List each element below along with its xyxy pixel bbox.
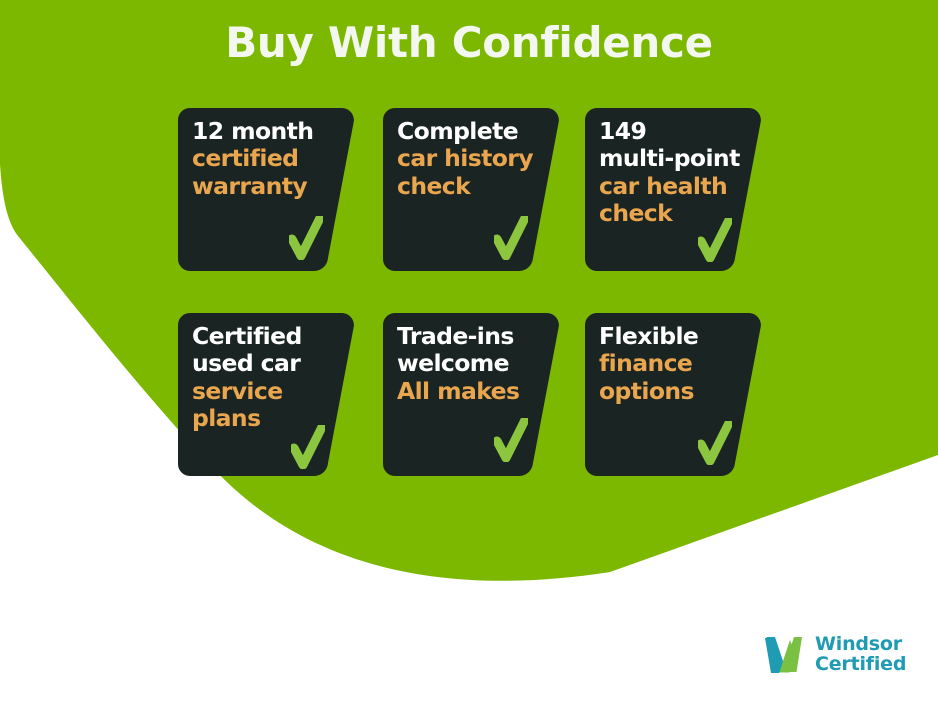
card-line-primary-1: Certified bbox=[192, 323, 344, 350]
card-line-secondary-2: options bbox=[599, 378, 751, 405]
card-line-primary-2: used car bbox=[192, 350, 344, 377]
card-line-primary-1: 12 month bbox=[192, 118, 344, 145]
windsor-certified-logo[interactable]: Windsor Certified bbox=[762, 628, 924, 680]
windsor-w-icon bbox=[762, 634, 806, 674]
card-text-block: Complete car history check bbox=[397, 118, 549, 200]
card-line-secondary-1: finance bbox=[599, 350, 751, 377]
card-line-secondary-1: car history bbox=[397, 145, 549, 172]
benefit-card-trade-ins-welcome-all-makes[interactable]: Trade-ins welcome All makes bbox=[383, 313, 559, 476]
check-icon bbox=[494, 418, 528, 462]
benefit-card-flexible-finance-options[interactable]: Flexible finance options bbox=[585, 313, 761, 476]
logo-line-2: Certified bbox=[815, 654, 906, 674]
benefit-card-certified-used-car-service-plans[interactable]: Certified used car service plans bbox=[178, 313, 354, 476]
card-text-block: 149 multi-point car health check bbox=[599, 118, 751, 227]
check-icon bbox=[698, 218, 732, 262]
card-line-secondary-1: certified bbox=[192, 145, 344, 172]
card-line-secondary-1: All makes bbox=[397, 378, 549, 405]
logo-line-1: Windsor bbox=[815, 634, 906, 654]
check-icon bbox=[289, 216, 323, 260]
page-title: Buy With Confidence bbox=[0, 18, 938, 67]
card-text-block: Certified used car service plans bbox=[192, 323, 344, 432]
card-text-block: Flexible finance options bbox=[599, 323, 751, 405]
card-line-primary-1: Flexible bbox=[599, 323, 751, 350]
check-icon bbox=[291, 425, 325, 469]
benefit-card-149-multi-point-car-health-check[interactable]: 149 multi-point car health check bbox=[585, 108, 761, 271]
poster-canvas: Buy With Confidence 12 month certified w… bbox=[0, 0, 938, 704]
card-line-secondary-1: car health bbox=[599, 173, 751, 200]
check-icon bbox=[698, 421, 732, 465]
card-line-secondary-2: check bbox=[397, 173, 549, 200]
card-line-primary-1: 149 bbox=[599, 118, 751, 145]
logo-wordmark: Windsor Certified bbox=[815, 634, 906, 675]
card-line-primary-2: multi-point bbox=[599, 145, 751, 172]
card-line-secondary-2: warranty bbox=[192, 173, 344, 200]
check-icon bbox=[494, 216, 528, 260]
card-text-block: Trade-ins welcome All makes bbox=[397, 323, 549, 405]
benefit-card-complete-car-history-check[interactable]: Complete car history check bbox=[383, 108, 559, 271]
card-line-primary-1: Trade-ins bbox=[397, 323, 549, 350]
card-line-secondary-1: service bbox=[192, 378, 344, 405]
benefits-card-grid: 12 month certified warranty Complete car… bbox=[178, 108, 778, 476]
benefit-card-12-month-certified-warranty[interactable]: 12 month certified warranty bbox=[178, 108, 354, 271]
card-text-block: 12 month certified warranty bbox=[192, 118, 344, 200]
card-line-primary-2: welcome bbox=[397, 350, 549, 377]
card-line-primary-1: Complete bbox=[397, 118, 549, 145]
